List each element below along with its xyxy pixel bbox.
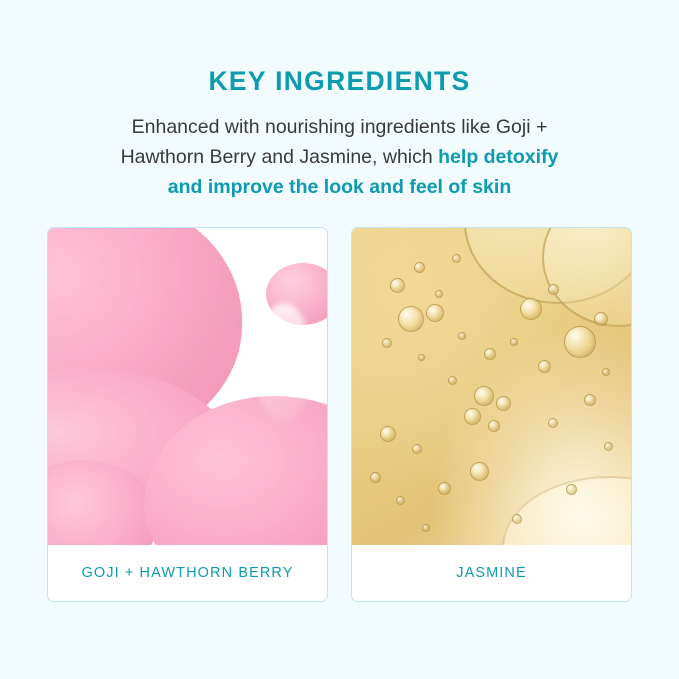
gold-bubble (488, 420, 500, 432)
subheading: Enhanced with nourishing ingredients lik… (78, 112, 601, 202)
pink-highlight-streak (255, 303, 313, 423)
gold-bubble (512, 514, 522, 524)
gold-bubble (520, 298, 542, 320)
gold-bubble (538, 360, 551, 373)
gold-bubble (438, 482, 451, 495)
gold-bubble (435, 290, 443, 298)
gold-bubble (426, 304, 444, 322)
subheading-line-1: Enhanced with nourishing ingredients lik… (132, 116, 548, 138)
gold-bubble (602, 368, 610, 376)
subheading-line-2: Hawthorn Berry and Jasmine, which (121, 146, 439, 168)
gold-bubble (548, 418, 558, 428)
ingredient-card-caption: JASMINE (352, 545, 631, 601)
subheading-accent-2: and improve the look and feel of skin (168, 176, 511, 198)
gold-bubble (604, 442, 613, 451)
page-title: KEY INGREDIENTS (0, 66, 679, 97)
ingredient-card-goji: GOJI + HAWTHORN BERRY (47, 227, 328, 602)
gold-bubble (594, 312, 608, 326)
gold-bubble (412, 444, 422, 454)
gold-bubble (548, 284, 559, 295)
gold-bubble (448, 376, 457, 385)
gold-bubble (414, 262, 425, 273)
ingredients-infographic: KEY INGREDIENTS Enhanced with nourishing… (0, 0, 679, 679)
gold-bubble (390, 278, 405, 293)
gold-bubble (382, 338, 392, 348)
ingredient-card-caption: GOJI + HAWTHORN BERRY (48, 545, 327, 601)
gold-bubble (396, 496, 405, 505)
ingredient-cards: GOJI + HAWTHORN BERRY (47, 227, 632, 602)
gold-bubble (452, 254, 461, 263)
gold-bubble (380, 426, 396, 442)
subheading-accent-1: help detoxify (438, 146, 558, 168)
gold-bubble (398, 306, 424, 332)
gold-bubble (566, 484, 577, 495)
gold-bubble (510, 338, 518, 346)
gold-bubble (496, 396, 511, 411)
gold-bubble (474, 386, 494, 406)
gold-bubble (422, 524, 430, 532)
gold-bubble (564, 326, 596, 358)
gold-bubble (464, 408, 481, 425)
gold-bubble (418, 354, 425, 361)
gold-bubble (584, 394, 596, 406)
gold-bubble (458, 332, 466, 340)
gold-bubble (484, 348, 496, 360)
gold-bubble (470, 462, 489, 481)
ingredient-card-jasmine: JASMINE (351, 227, 632, 602)
gold-bubble (370, 472, 381, 483)
pink-liquid-blobs-image (48, 228, 327, 545)
gold-oil-bubbles-image (352, 228, 631, 545)
